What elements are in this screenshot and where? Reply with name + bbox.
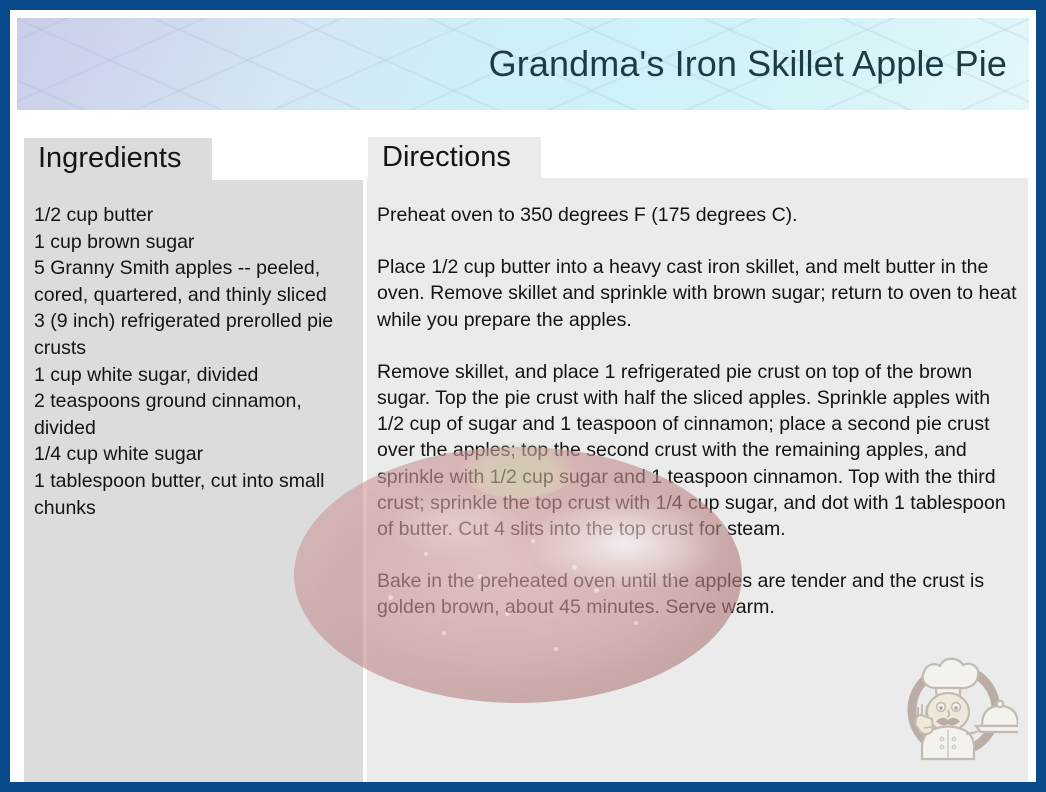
list-item: 3 (9 inch) refrigerated prerolled pie cr… [34,308,357,361]
list-item: 1/2 cup butter [34,202,357,229]
list-item: 1 cup white sugar, divided [34,362,357,389]
direction-step: Remove skillet, and place 1 refrigerated… [377,359,1018,542]
list-item: 1 cup brown sugar [34,229,357,256]
section-heading-directions: Directions [368,137,541,181]
page-title: Grandma's Iron Skillet Apple Pie [489,43,1007,85]
ingredients-panel: 1/2 cup butter 1 cup brown sugar 5 Grann… [24,180,363,782]
list-item: 1 tablespoon butter, cut into small chun… [34,468,357,521]
title-banner: Grandma's Iron Skillet Apple Pie [17,18,1029,110]
directions-list: Preheat oven to 350 degrees F (175 degre… [367,178,1028,621]
list-item: 5 Granny Smith apples -- peeled, cored, … [34,255,357,308]
list-item: 2 teaspoons ground cinnamon, divided [34,388,357,441]
recipe-card: Grandma's Iron Skillet Apple Pie 1/2 cup… [0,0,1046,792]
ingredients-list: 1/2 cup butter 1 cup brown sugar 5 Grann… [24,180,363,521]
list-item: 1/4 cup white sugar [34,441,357,468]
direction-step: Preheat oven to 350 degrees F (175 degre… [377,202,1018,228]
direction-step: Bake in the preheated oven until the app… [377,568,1018,620]
directions-panel: Preheat oven to 350 degrees F (175 degre… [367,178,1028,782]
section-heading-ingredients: Ingredients [24,138,212,182]
direction-step: Place 1/2 cup butter into a heavy cast i… [377,254,1018,333]
